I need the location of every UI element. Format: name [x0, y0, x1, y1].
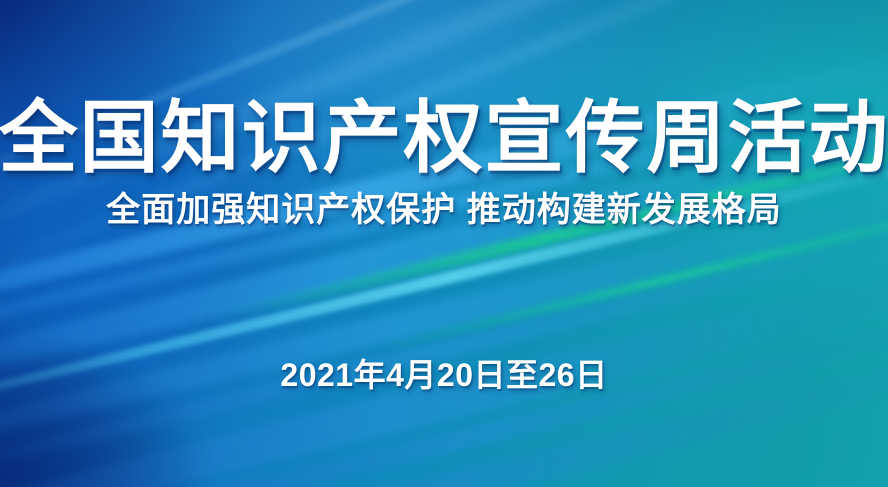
banner-content: 全国知识产权宣传周活动 全面加强知识产权保护 推动构建新发展格局 2021年4月…	[0, 0, 888, 487]
banner-sub-title: 全面加强知识产权保护 推动构建新发展格局	[106, 193, 781, 227]
banner-date-range: 2021年4月20日至26日	[280, 359, 607, 391]
ip-week-banner: 全国知识产权宣传周活动 全面加强知识产权保护 推动构建新发展格局 2021年4月…	[0, 0, 888, 487]
banner-main-title: 全国知识产权宣传周活动	[0, 98, 888, 177]
